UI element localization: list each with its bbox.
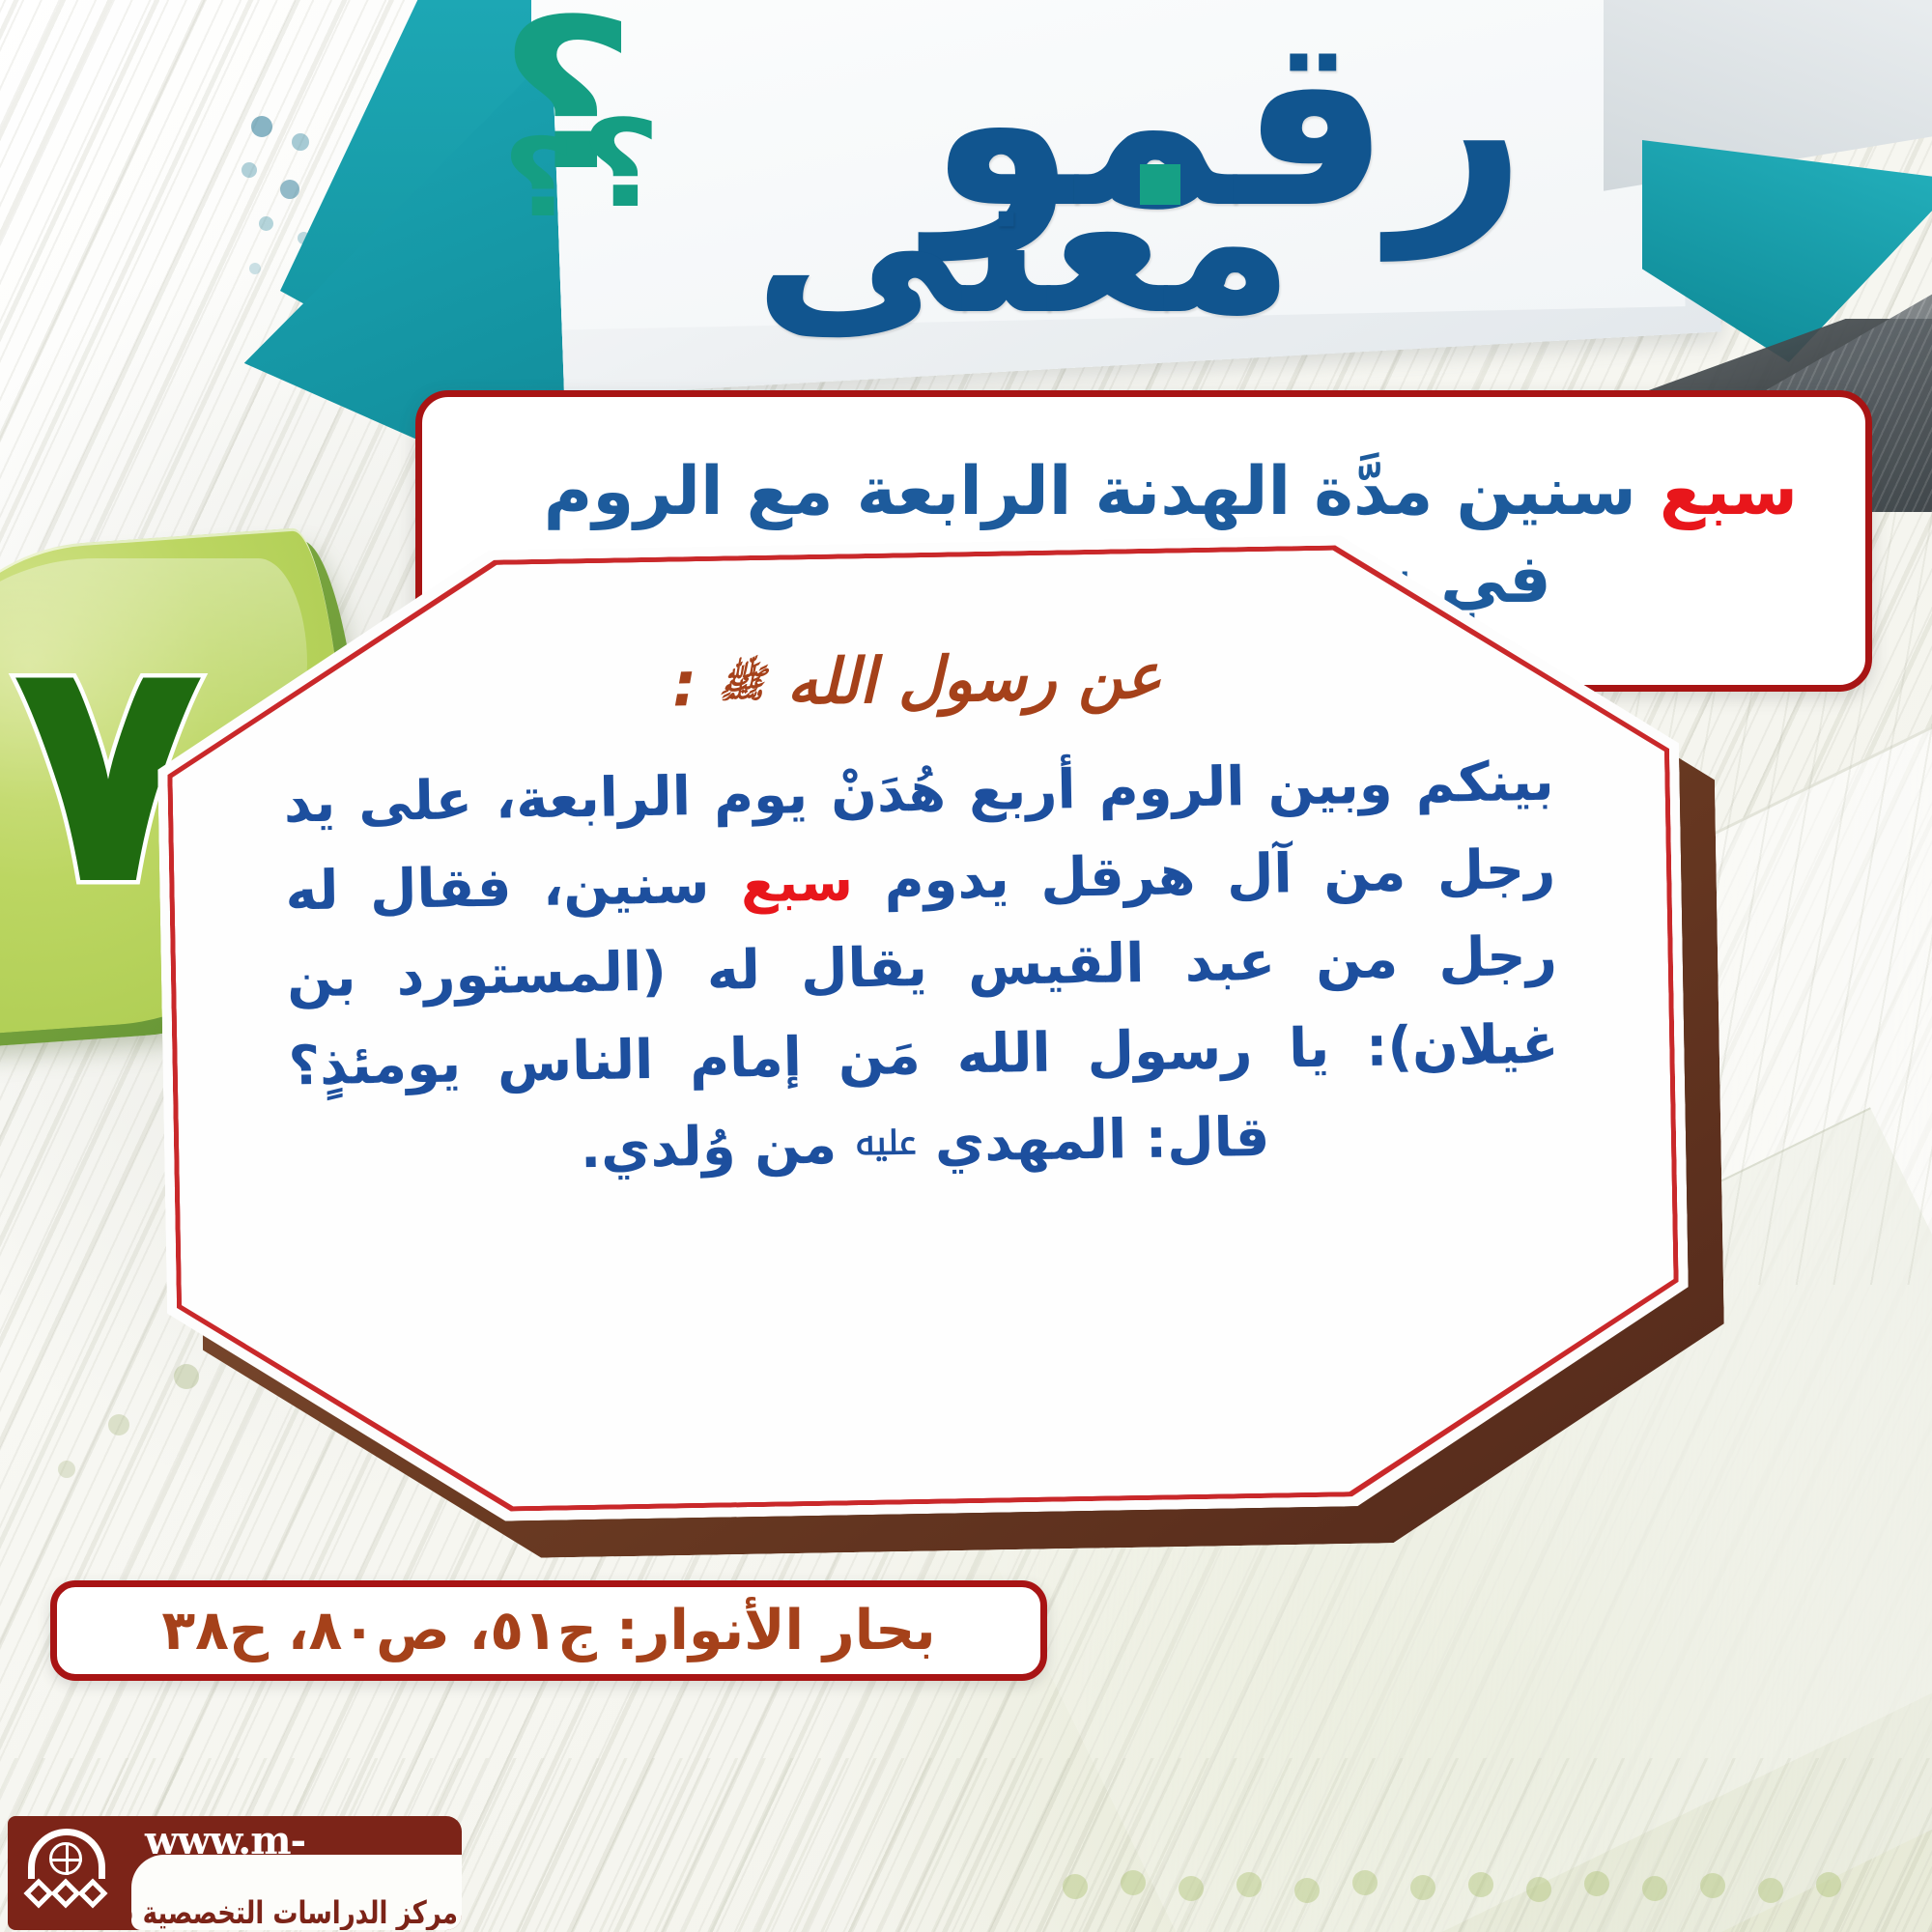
footer-white-plate: مركز الدراسات التخصصية في الإمام المهدي <box>131 1855 462 1930</box>
sallallahu-alayhi-honorific-glyph-icon: ﷺ <box>718 660 765 717</box>
infographic-canvas: ؟ ؟ ؟ رقمو معنى ٧ سبع سنين مدَّة الهدنة … <box>0 0 1932 1932</box>
logo-green-square-accent <box>1140 164 1180 205</box>
diamond-icon-2 <box>50 1878 80 1908</box>
brand-logo[interactable]: ؟ ؟ ؟ رقمو معنى <box>502 10 1526 328</box>
title-highlight-number: سبع <box>1660 453 1798 530</box>
logo-text-secondary: معنى <box>753 135 1294 343</box>
title-line-1-rest: سنين مدَّة الهدنة الرابعة مع الروم <box>544 453 1660 530</box>
citation-text: بحار الأنوار: ج٥١، ص٨٠، ح٣٨ <box>161 1599 935 1662</box>
globe-icon <box>49 1842 82 1875</box>
diamond-icon-1 <box>23 1878 53 1908</box>
citation-card: بحار الأنوار: ج٥١، ص٨٠، ح٣٨ <box>50 1580 1047 1681</box>
alayhi-salam-honorific-glyph-icon: ﷷ <box>855 1117 917 1171</box>
title-line-1: سبع سنين مدَّة الهدنة الرابعة مع الروم <box>476 448 1811 536</box>
globe-arch-emblem-icon <box>20 1827 113 1919</box>
footer-emblem-tile <box>8 1816 126 1930</box>
hadith-body: بينكم وبين الروم أربع هُدَنْ يوم الرابعة… <box>283 739 1561 1199</box>
footer-body: www.m-mahdi.com مركز الدراسات التخصصية ف… <box>126 1816 462 1930</box>
hadith-highlight-number: سبع <box>740 850 853 915</box>
question-mark-icon-small: ؟ <box>502 133 575 225</box>
footer-branding[interactable]: www.m-mahdi.com مركز الدراسات التخصصية ف… <box>8 1816 462 1930</box>
hadith-narrator-text: عن رسول الله <box>786 641 1163 720</box>
footer-organization-name: مركز الدراسات التخصصية في الإمام المهدي <box>126 1895 458 1930</box>
hadith-body-part-3: من وُلدي. <box>580 1113 856 1180</box>
question-marks-ornament: ؟ ؟ ؟ <box>502 17 744 249</box>
ornament-dots-bottom <box>1063 1870 1913 1909</box>
diamond-icon-3 <box>77 1878 107 1908</box>
hadith-narrator-line: عن رسول الله ﷺ : <box>671 641 1162 725</box>
hadith-narrator-colon: : <box>671 649 697 721</box>
question-mark-icon-medium: ؟ <box>581 114 661 216</box>
hadith-card: عن رسول الله ﷺ : بينكم وبين الروم أربع ه… <box>164 540 1683 1518</box>
